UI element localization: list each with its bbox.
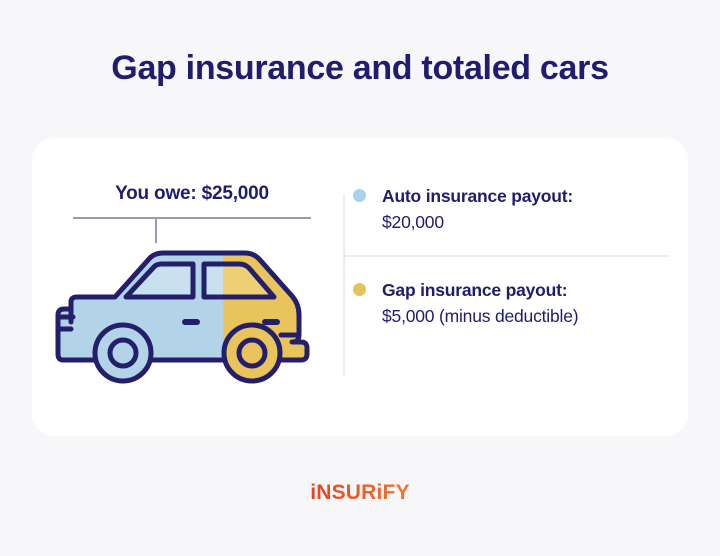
legend-title: Auto insurance payout: [382,183,673,209]
legend-title: Gap insurance payout: [382,277,673,303]
legend-value: $5,000 (minus deductible) [382,303,673,329]
auto-insurance-dot-icon [353,189,366,202]
payout-legend: Auto insurance payout: $20,000 Gap insur… [343,183,673,393]
suv-side-view-icon [49,243,339,388]
legend-item-auto-insurance: Auto insurance payout: $20,000 [343,183,673,235]
car-illustration [49,243,339,388]
page-title: Gap insurance and totaled cars [0,46,720,90]
amount-owed-bracket [73,217,311,245]
legend-text: Gap insurance payout: $5,000 (minus dedu… [382,277,673,329]
bracket-horizontal-line [73,217,311,219]
content-card: You owe: $25,000 [32,138,688,436]
infographic-root: Gap insurance and totaled cars You owe: … [0,0,720,556]
bracket-pointer-tick [155,217,157,243]
gap-insurance-dot-icon [353,283,366,296]
legend-divider [345,255,669,257]
insurify-logo: iNSURiFY [0,481,720,505]
legend-value: $20,000 [382,209,673,235]
insurify-wordmark: iNSURiFY [310,481,410,505]
amount-owed-panel: You owe: $25,000 [41,138,343,436]
legend-item-gap-insurance: Gap insurance payout: $5,000 (minus dedu… [343,277,673,329]
amount-owed-label: You owe: $25,000 [41,183,343,205]
legend-text: Auto insurance payout: $20,000 [382,183,673,235]
